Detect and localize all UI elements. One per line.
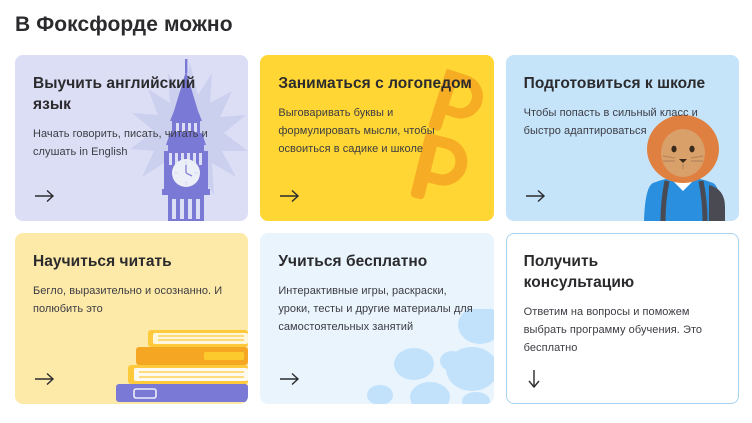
arrow-right-icon[interactable] [34,370,56,388]
card-title: Научиться читать [33,251,230,272]
card-consultation[interactable]: Получить консультацию Ответим на вопросы… [506,233,739,404]
card-description: Интерактивные игры, раскраски, уроки, те… [278,282,475,336]
card-description: Чтобы попасть в сильный класс и быстро а… [524,104,721,140]
cards-grid: Выучить английский язык Начать говорить,… [15,55,739,404]
card-title: Получить консультацию [524,251,684,293]
card-title: Подготовиться к школе [524,73,721,94]
card-description: Бегло, выразительно и осознанно. И полюб… [33,282,230,318]
card-description: Ответим на вопросы и поможем выбрать про… [524,303,714,357]
card-school-prep[interactable]: Подготовиться к школе Чтобы попасть в си… [506,55,739,221]
arrow-down-icon[interactable] [526,369,548,387]
card-title: Учиться бесплатно [278,251,475,272]
arrow-right-icon[interactable] [279,370,301,388]
card-free-study[interactable]: Учиться бесплатно Интерактивные игры, ра… [260,233,493,404]
card-description: Выговаривать буквы и формулировать мысли… [278,104,475,158]
page-title: В Фоксфорде можно [15,10,233,40]
card-english[interactable]: Выучить английский язык Начать говорить,… [15,55,248,221]
card-learn-to-read[interactable]: Научиться читать Бегло, выразительно и о… [15,233,248,404]
arrow-right-icon[interactable] [525,187,547,205]
arrow-right-icon[interactable] [34,187,56,205]
arrow-right-icon[interactable] [279,187,301,205]
card-title: Заниматься с логопедом [278,73,475,94]
card-speech-therapist[interactable]: Заниматься с логопедом Выговаривать букв… [260,55,493,221]
card-title: Выучить английский язык [33,73,230,115]
promo-cards-page: В Фоксфорде можно [0,0,752,423]
card-description: Начать говорить, писать, читать и слушат… [33,125,230,161]
